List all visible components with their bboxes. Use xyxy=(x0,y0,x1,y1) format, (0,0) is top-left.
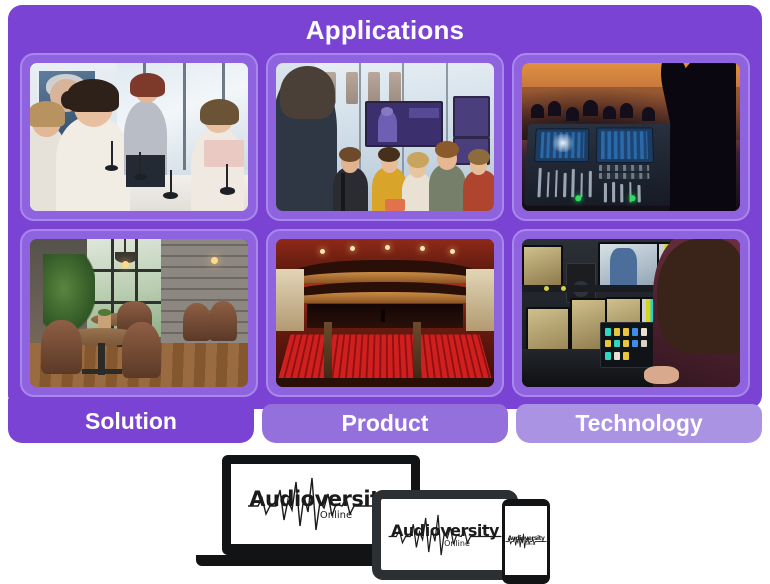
phone-bezel: Audioversity Online xyxy=(502,499,550,584)
card-broadcast[interactable] xyxy=(512,229,750,397)
logo-subtitle: Online xyxy=(526,542,536,546)
tab-product[interactable]: Product xyxy=(262,404,508,443)
tablet-bezel: Audioversity Online xyxy=(372,490,518,580)
audioversity-logo-tablet: Audioversity Online xyxy=(381,499,509,570)
card-live-sound[interactable] xyxy=(512,53,750,221)
tablet-mockup: Audioversity Online xyxy=(372,490,518,580)
photo-theatre-auditorium xyxy=(276,239,494,387)
logo-wordmark: Audioversity xyxy=(508,535,545,542)
audioversity-logo-phone: Audioversity Online xyxy=(505,506,547,575)
logo-subtitle: Online xyxy=(444,539,470,548)
tab-technology[interactable]: Technology xyxy=(516,404,762,443)
category-tabs: Solution Product Technology xyxy=(8,399,762,443)
page-title: Applications xyxy=(8,15,762,45)
logo-wordmark: Audioversity xyxy=(391,521,499,540)
card-meeting-room[interactable] xyxy=(20,53,258,221)
device-mockups: Audioversity Online Audioversity Online xyxy=(0,450,770,580)
tablet-screen: Audioversity Online xyxy=(381,499,509,570)
photo-corporate-meeting-room xyxy=(30,63,248,211)
applications-image-grid xyxy=(20,53,750,397)
tab-solution-label: Solution xyxy=(85,408,177,435)
card-lecture-hall[interactable] xyxy=(266,53,504,221)
photo-cafe-interior xyxy=(30,239,248,387)
tab-solution[interactable]: Solution xyxy=(8,399,254,443)
photo-broadcast-control-room xyxy=(522,239,740,387)
card-cafe[interactable] xyxy=(20,229,258,397)
card-theatre[interactable] xyxy=(266,229,504,397)
tab-technology-label: Technology xyxy=(575,410,702,437)
phone-screen: Audioversity Online xyxy=(505,506,547,575)
applications-panel: Applications xyxy=(8,5,762,409)
logo-subtitle: Online xyxy=(320,510,352,521)
phone-mockup: Audioversity Online xyxy=(502,499,550,584)
photo-live-concert-mixing-desk xyxy=(522,63,740,211)
tab-product-label: Product xyxy=(342,410,429,437)
photo-hybrid-lecture-hall xyxy=(276,63,494,211)
